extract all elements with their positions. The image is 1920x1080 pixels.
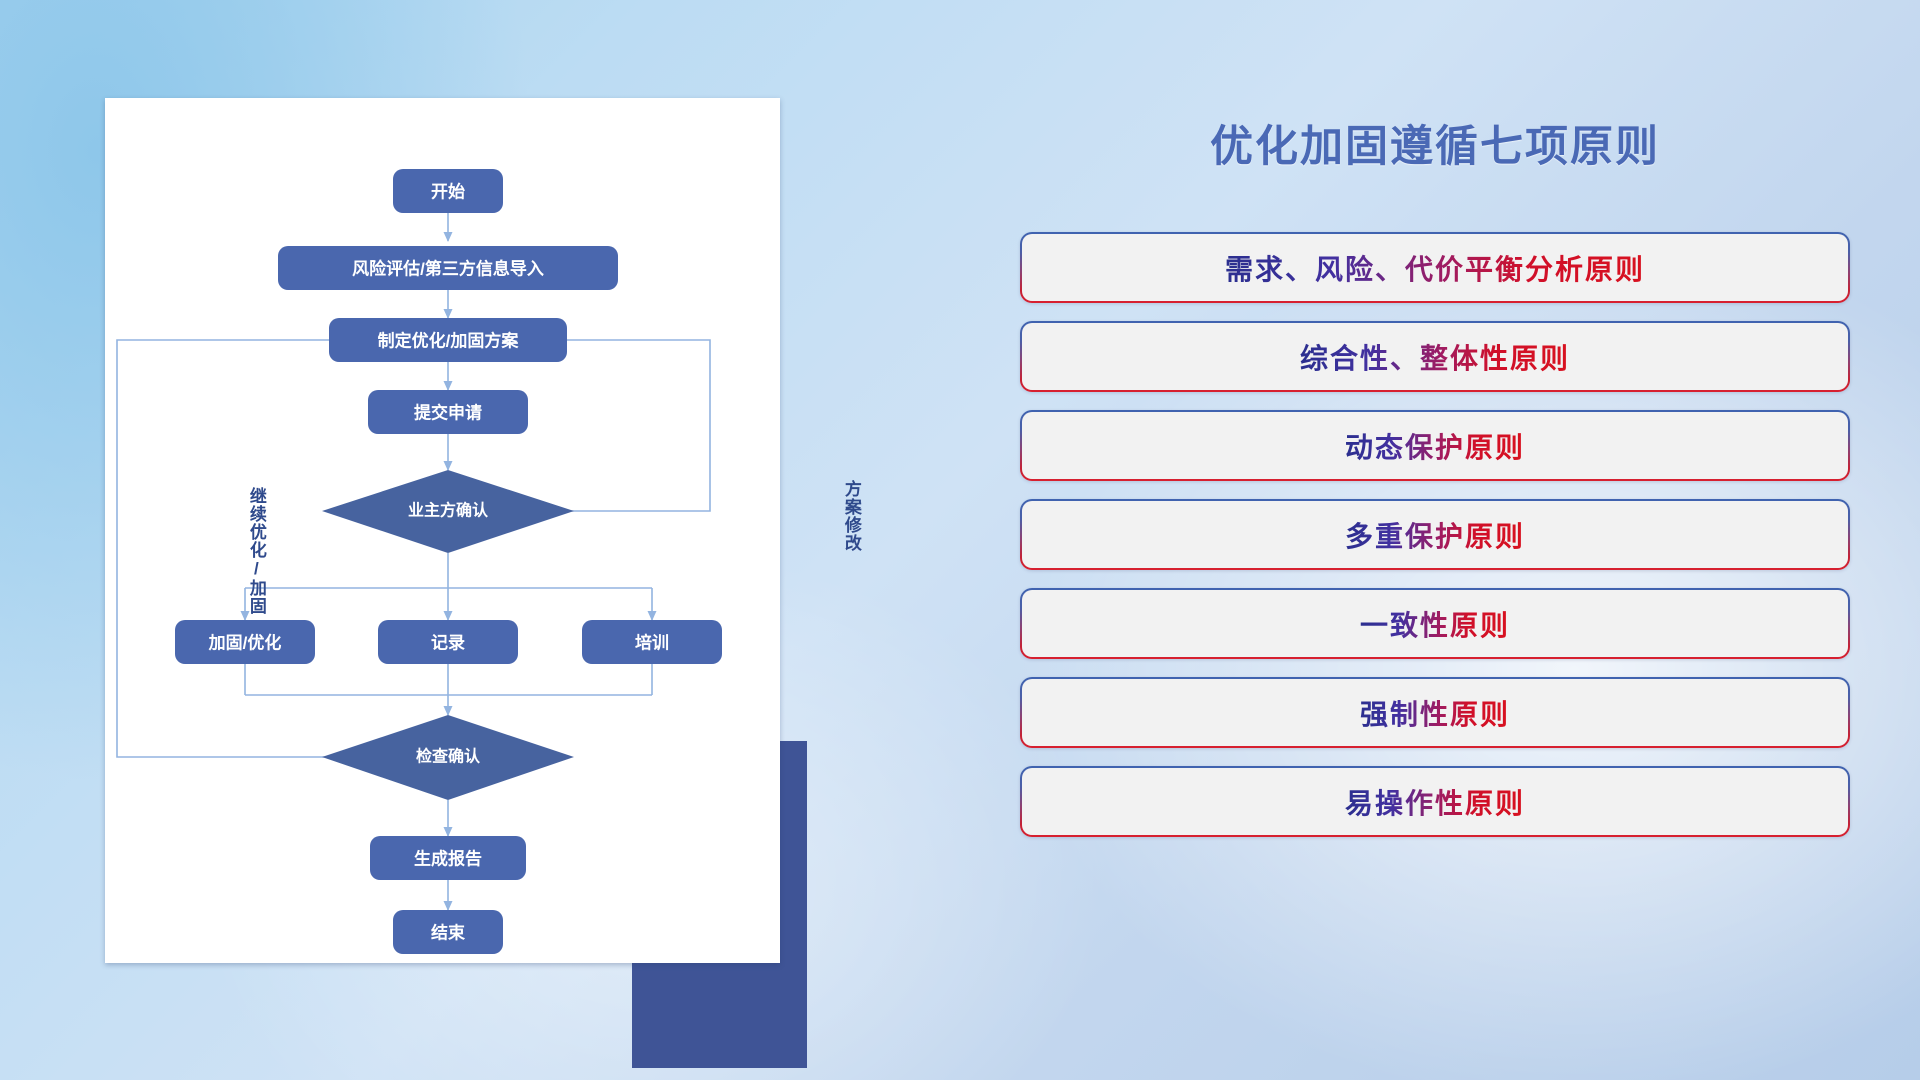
principle-card-2-inner: 综合性、整体性原则 (1022, 323, 1848, 390)
flow-node-check-confirm-label: 检查确认 (416, 747, 481, 766)
principle-card-7-inner: 易操作性原则 (1022, 768, 1848, 835)
flow-node-record[interactable]: 记录 (378, 620, 518, 664)
flow-node-plan[interactable]: 制定优化/加固方案 (329, 318, 567, 362)
flow-node-plan-label: 制定优化/加固方案 (378, 331, 520, 351)
principle-card-7-label: 易操作性原则 (1345, 782, 1525, 822)
flow-node-report[interactable]: 生成报告 (370, 836, 526, 880)
flow-node-reinforce[interactable]: 加固/优化 (175, 620, 315, 664)
flowchart-panel: 开始 风险评估/第三方信息导入 制定优化/加固方案 提交申请 业主方确认 (105, 98, 780, 970)
flow-node-check-confirm[interactable]: 检查确认 (322, 715, 574, 800)
flow-node-start[interactable]: 开始 (393, 169, 503, 213)
principle-card-1[interactable]: 需求、风险、代价平衡分析原则 (1020, 232, 1850, 303)
principle-card-5-label: 一致性原则 (1360, 604, 1510, 644)
flow-edge-label-continue: 继续优化/加固 (247, 487, 265, 615)
connector-group (117, 213, 710, 910)
principle-card-2[interactable]: 综合性、整体性原则 (1020, 321, 1850, 392)
principle-card-3-label: 动态保护原则 (1345, 426, 1525, 466)
principle-card-2-label: 综合性、整体性原则 (1300, 337, 1570, 377)
flow-edge-label-revise: 方案修改 (842, 480, 860, 552)
flow-node-submit[interactable]: 提交申请 (368, 390, 528, 434)
flow-node-record-label: 记录 (431, 634, 465, 653)
flow-node-end[interactable]: 结束 (393, 910, 503, 954)
page-title: 优化加固遵循七项原则 (1020, 112, 1850, 174)
principle-card-1-label: 需求、风险、代价平衡分析原则 (1225, 248, 1645, 288)
flow-node-assess[interactable]: 风险评估/第三方信息导入 (278, 246, 618, 290)
flow-node-training-label: 培训 (635, 633, 669, 653)
principle-card-5[interactable]: 一致性原则 (1020, 588, 1850, 659)
principle-card-5-inner: 一致性原则 (1022, 590, 1848, 657)
flow-node-owner-confirm-label: 业主方确认 (408, 501, 489, 520)
flow-node-submit-label: 提交申请 (414, 403, 482, 423)
flow-node-owner-confirm[interactable]: 业主方确认 (322, 470, 574, 553)
principle-card-7[interactable]: 易操作性原则 (1020, 766, 1850, 837)
principles-pane: 优化加固遵循七项原则 需求、风险、代价平衡分析原则 综合性、整体性原则 动态保护… (1020, 0, 1850, 1080)
principle-card-4-label: 多重保护原则 (1345, 515, 1525, 555)
flow-node-assess-label: 风险评估/第三方信息导入 (352, 259, 544, 279)
principle-card-1-inner: 需求、风险、代价平衡分析原则 (1022, 234, 1848, 301)
flow-node-training[interactable]: 培训 (582, 620, 722, 664)
principle-card-6[interactable]: 强制性原则 (1020, 677, 1850, 748)
flow-node-reinforce-label: 加固/优化 (208, 633, 282, 653)
flow-node-report-label: 生成报告 (414, 849, 482, 869)
flow-node-end-label: 结束 (431, 923, 465, 943)
flowchart-diagram: 开始 风险评估/第三方信息导入 制定优化/加固方案 提交申请 业主方确认 (105, 98, 780, 963)
principle-card-4-inner: 多重保护原则 (1022, 501, 1848, 568)
flow-node-start-label: 开始 (431, 182, 465, 202)
principle-card-3[interactable]: 动态保护原则 (1020, 410, 1850, 481)
principle-card-6-inner: 强制性原则 (1022, 679, 1848, 746)
principle-list: 需求、风险、代价平衡分析原则 综合性、整体性原则 动态保护原则 多重保护原则 一… (1020, 232, 1850, 855)
principle-card-3-inner: 动态保护原则 (1022, 412, 1848, 479)
principle-card-6-label: 强制性原则 (1360, 693, 1510, 733)
flowchart-card: 开始 风险评估/第三方信息导入 制定优化/加固方案 提交申请 业主方确认 (105, 98, 780, 963)
principle-card-4[interactable]: 多重保护原则 (1020, 499, 1850, 570)
